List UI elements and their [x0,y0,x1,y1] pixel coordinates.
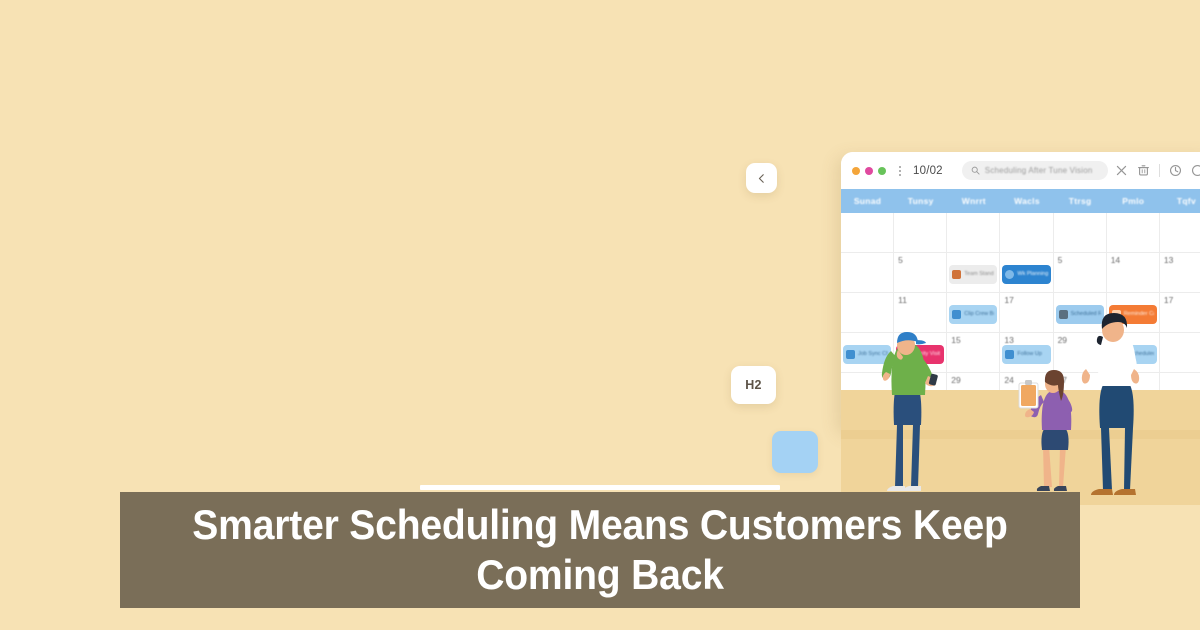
weekday-label: Tqfv [1160,189,1200,213]
weekday-label: Tunsy [894,189,947,213]
calendar-day-cell[interactable]: 25 [1107,373,1160,413]
calendar-event-chip[interactable]: Job Sync Check [843,345,891,364]
calendar-day-number: 17 [1164,296,1200,305]
calendar-event-label: Team Standup Thursday [964,270,994,278]
calendar-day-cell[interactable]: Job Sync Check [841,333,894,373]
calendar-day-cell[interactable]: 24 [1000,373,1053,413]
calendar-day-number: 5 [898,256,946,265]
calendar-icon [1112,350,1121,359]
calendar-day-cell[interactable]: Priority Visit [894,333,947,373]
calendar-day-cell[interactable]: 13Follow Up [1000,333,1053,373]
calendar-day-cell[interactable]: 14 [1107,253,1160,293]
calendar-day-number: 13 [1164,256,1200,265]
calendar-event-label: Priority Visit [911,350,941,358]
calendar-day-cell[interactable]: Team Standup Thursday [947,253,1000,293]
calendar-event-label: Clip Crew Briefing [964,310,994,318]
calendar-event-chip[interactable]: Priority Visit [896,345,944,364]
calendar-event-chip[interactable]: Clip Crew Briefing [949,305,997,324]
calendar-day-number: 14 [1111,256,1159,265]
calendar-event-label: Follow Up [1017,350,1047,358]
search-input[interactable]: Scheduling After Tune Vision [962,161,1108,180]
clock-icon[interactable] [1169,164,1182,177]
calendar-day-cell[interactable] [1054,213,1107,253]
check-icon [846,350,855,359]
calendar-day-cell[interactable] [841,213,894,253]
calendar-day-number: 24 [1004,376,1052,385]
poster-canvas: 10/02 Scheduling After Tune Vision [0,0,1200,630]
calendar-day-cell[interactable]: Scheduled Route [1054,293,1107,333]
calendar-day-number: 29 [951,376,999,385]
calendar-day-number: 11 [898,296,946,305]
calendar-day-cell[interactable] [1160,373,1200,413]
calendar-day-cell[interactable] [841,253,894,293]
calendar-event-label: Wk Planning [1017,270,1047,278]
calendar-event-label: Rescheduled Appt [1124,350,1154,358]
chevron-left-icon [756,173,767,184]
calendar-day-cell[interactable]: 15 [947,333,1000,373]
prev-button[interactable] [746,163,777,193]
weekday-label: Wacls [1000,189,1053,213]
weekday-label: Ttrsg [1054,189,1107,213]
calendar-day-cell[interactable]: Clip Crew Briefing [947,293,1000,333]
calendar-event-chip[interactable]: Rescheduled Appt [1109,345,1157,364]
calendar-day-number: 15 [951,336,999,345]
calendar-event-label: Scheduled Route [1071,310,1101,318]
calendar-day-cell[interactable]: 29 [947,373,1000,413]
weekday-label: Pmlo [1107,189,1160,213]
star-icon [899,350,908,359]
window-minimize-dot[interactable] [865,167,873,175]
close-icon[interactable] [1115,164,1128,177]
calendar-day-cell[interactable]: 23 [894,373,947,413]
calendar-event-chip[interactable]: Wk Planning [1002,265,1050,284]
clipboard-icon [952,270,961,279]
calendar-day-cell[interactable]: Wk Planning [1000,253,1053,293]
bell-icon [1112,310,1121,319]
calendar-day-cell[interactable] [841,373,894,413]
calendar-day-number: 29 [1058,336,1106,345]
calendar-event-chip[interactable]: Scheduled Route [1056,305,1104,324]
kebab-menu-icon[interactable] [895,164,904,178]
pin-icon [1059,310,1068,319]
titlebar-actions [1115,164,1200,177]
headline-banner: Smarter Scheduling Means Customers Keep … [120,492,1080,608]
calendar-day-cell[interactable] [841,293,894,333]
calendar-app-window: 10/02 Scheduling After Tune Vision [841,152,1200,432]
page-title: Smarter Scheduling Means Customers Keep … [170,500,1029,599]
heading-tag-chip[interactable]: H2 [731,366,776,404]
weekday-label: Sunad [841,189,894,213]
calendar-day-cell[interactable]: 17 [1160,293,1200,333]
calendar-day-cell[interactable]: Reminder Call Slot [1107,293,1160,333]
calendar-day-cell[interactable]: 27 [1054,373,1107,413]
calendar-event-chip[interactable]: Reminder Call Slot [1109,305,1157,324]
trash-icon[interactable] [1137,164,1150,177]
calendar-day-cell[interactable]: Rescheduled Appt [1107,333,1160,373]
calendar-event-chip[interactable]: Team Standup Thursday [949,265,997,284]
calendar-day-cell[interactable] [1160,213,1200,253]
clock-icon [1005,270,1014,279]
calendar-weekday-header: Sunad Tunsy Wnrrt Wacls Ttrsg Pmlo Tqfv [841,189,1200,213]
app-titlebar: 10/02 Scheduling After Tune Vision [841,152,1200,189]
weekday-label: Wnrrt [947,189,1000,213]
calendar-day-cell[interactable] [1000,213,1053,253]
check-icon [1005,350,1014,359]
window-close-dot[interactable] [852,167,860,175]
calendar-day-cell[interactable] [1160,333,1200,373]
calendar-day-cell[interactable]: 17 [1000,293,1053,333]
calendar-day-number: 5 [1058,256,1106,265]
calendar-day-number: 13 [1004,336,1052,345]
search-icon [971,166,980,175]
calendar-day-cell[interactable] [947,213,1000,253]
calendar-event-label: Reminder Call Slot [1124,310,1154,318]
circle-icon[interactable] [1191,164,1200,177]
calendar-day-cell[interactable] [1107,213,1160,253]
calendar-event-chip[interactable]: Follow Up [1002,345,1050,364]
calendar-day-number: 23 [898,376,946,385]
calendar-event-label: Job Sync Check [858,350,888,358]
calendar-day-cell[interactable]: 13 [1160,253,1200,293]
calendar-day-number: 27 [1058,376,1106,385]
calendar-day-cell[interactable] [894,213,947,253]
title-divider [420,485,780,490]
window-traffic-lights [852,167,886,175]
calendar-day-cell[interactable]: 29 [1054,333,1107,373]
titlebar-divider [1159,164,1160,177]
calendar-day-number: 25 [1111,376,1159,385]
calendar-month-grid[interactable]: 5Team Standup ThursdayWk Planning5141311… [841,213,1200,413]
calendar-day-cell[interactable]: 5 [1054,253,1107,293]
accent-square[interactable] [772,431,818,473]
titlebar-date-label: 10/02 [913,165,943,177]
window-maximize-dot[interactable] [878,167,886,175]
search-query-text: Scheduling After Tune Vision [985,166,1093,175]
heading-tag-label: H2 [745,378,762,392]
calendar-icon [952,310,961,319]
calendar-day-cell[interactable]: 11 [894,293,947,333]
calendar-day-number: 17 [1004,296,1052,305]
calendar-day-cell[interactable]: 5 [894,253,947,293]
